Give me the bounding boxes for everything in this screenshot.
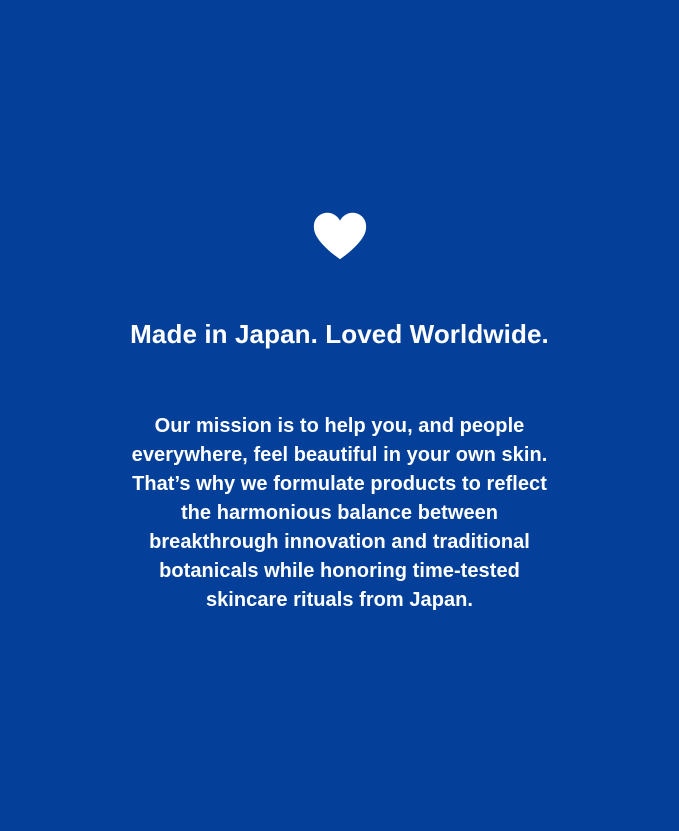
- brand-mission-panel: Made in Japan. Loved Worldwide. Our miss…: [0, 0, 679, 831]
- heart-icon: [313, 212, 367, 260]
- page-title: Made in Japan. Loved Worldwide.: [130, 319, 549, 350]
- mission-statement-text: Our mission is to help you, and people e…: [125, 412, 555, 615]
